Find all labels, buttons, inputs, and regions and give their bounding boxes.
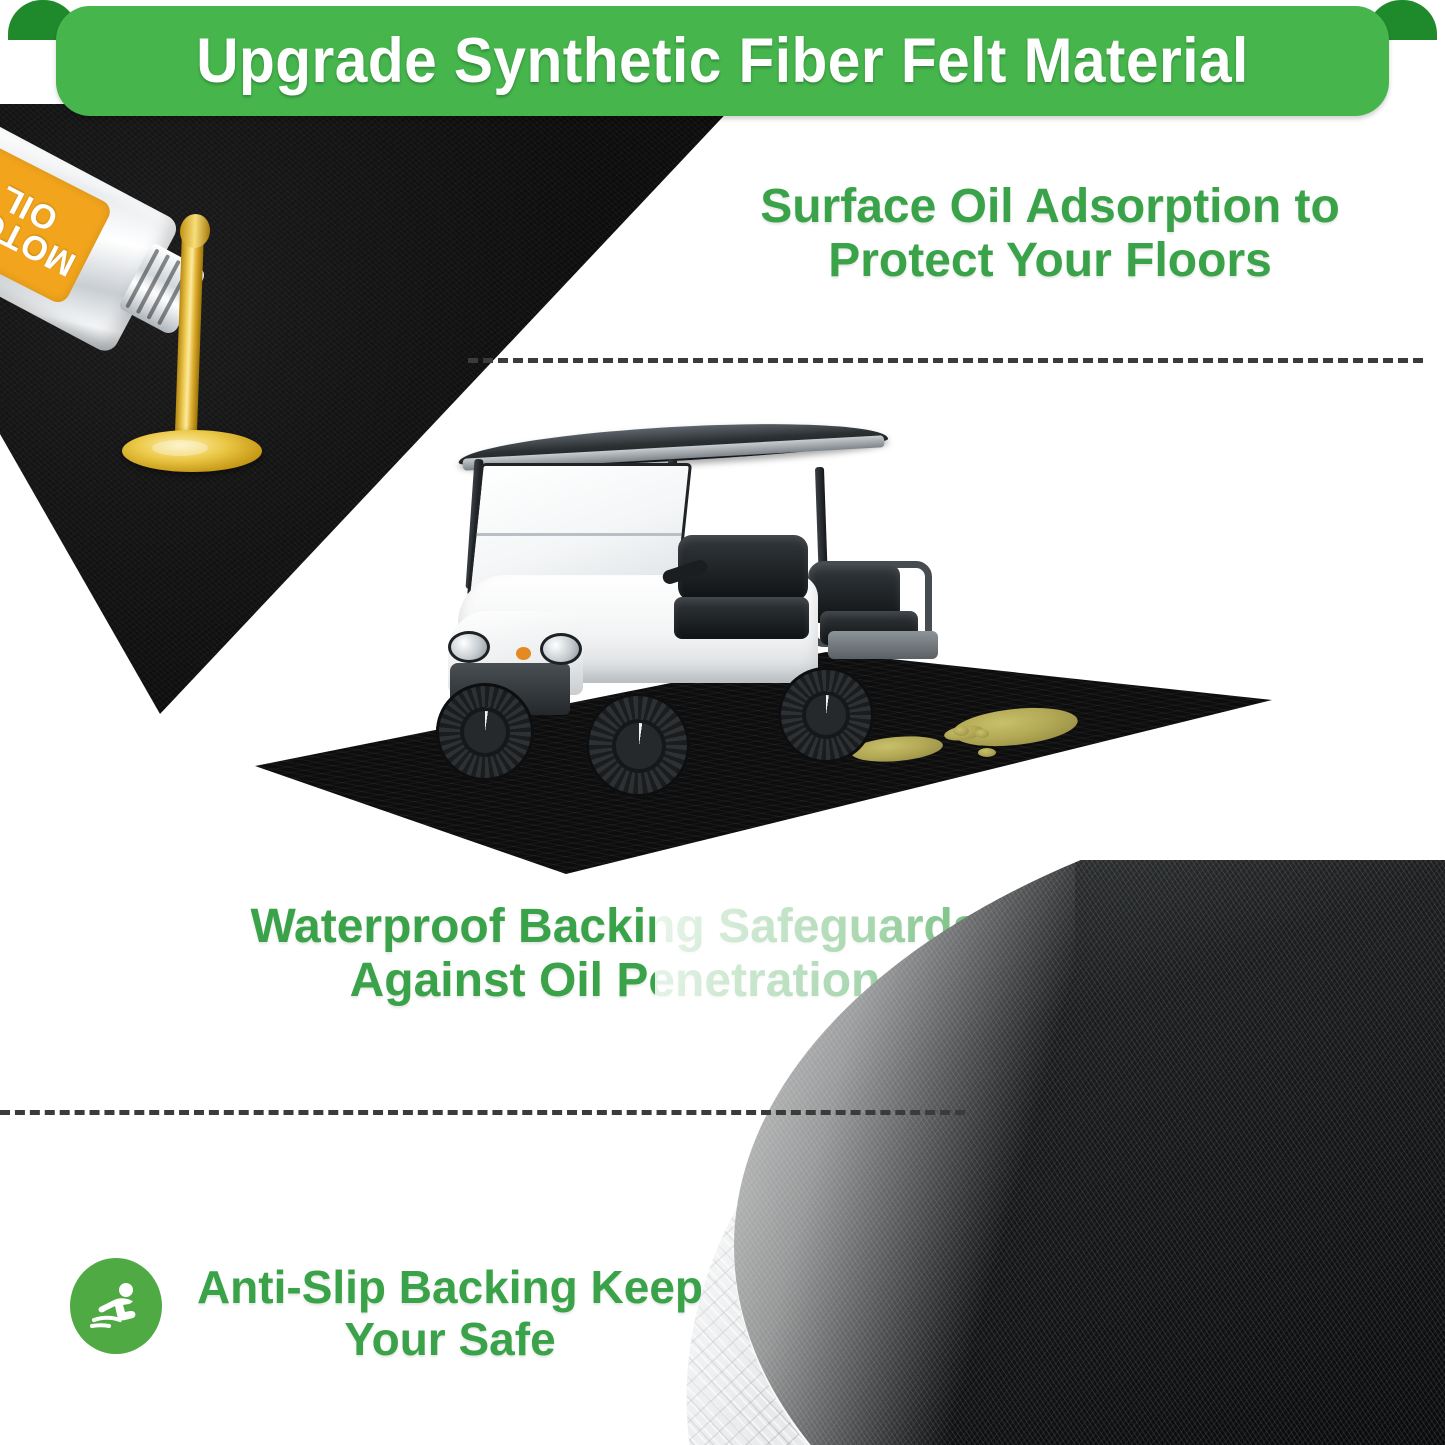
page-title: Upgrade Synthetic Fiber Felt Material	[103, 6, 1343, 116]
oil-spill-stain	[978, 748, 996, 757]
feature-line-2: Your Safe	[165, 1314, 735, 1366]
cart-wheel-rim	[612, 719, 666, 773]
cart-headlamp	[540, 633, 582, 665]
product-feature-infographic: OIL MOTOR Upgrade Synthetic Fiber Felt M…	[0, 0, 1445, 1445]
cart-headlamp	[448, 631, 490, 663]
divider-bottom	[0, 1110, 965, 1115]
feature-line-1: Surface Oil Adsorption to	[700, 180, 1400, 234]
cart-wheel-rim	[802, 691, 850, 739]
slip-warning-icon	[70, 1258, 162, 1354]
cart-front-seat-base	[674, 597, 809, 639]
anti-slip-diamond-backing-closeup	[655, 860, 1445, 1445]
oil-spill-stain	[953, 726, 969, 736]
feature-text-anti-slip: Anti-Slip Backing Keep Your Safe	[165, 1262, 735, 1365]
feature-line-1: Anti-Slip Backing Keep	[165, 1262, 735, 1314]
feature-line-2: Protect Your Floors	[700, 234, 1400, 288]
oil-pool	[122, 430, 262, 472]
cart-turn-signal	[516, 647, 531, 660]
white-golf-cart	[430, 415, 930, 805]
oil-spill-stain	[943, 723, 985, 742]
cart-wheel-rim	[460, 707, 510, 757]
ribbon-body: Upgrade Synthetic Fiber Felt Material	[56, 6, 1389, 116]
divider-top	[468, 358, 1423, 363]
feature-text-surface-oil: Surface Oil Adsorption to Protect Your F…	[700, 180, 1400, 288]
oil-spill-stain	[950, 703, 1079, 752]
cart-rear-deck	[828, 631, 938, 659]
oil-spill-stain	[975, 729, 989, 738]
header-ribbon: Upgrade Synthetic Fiber Felt Material	[0, 0, 1445, 122]
